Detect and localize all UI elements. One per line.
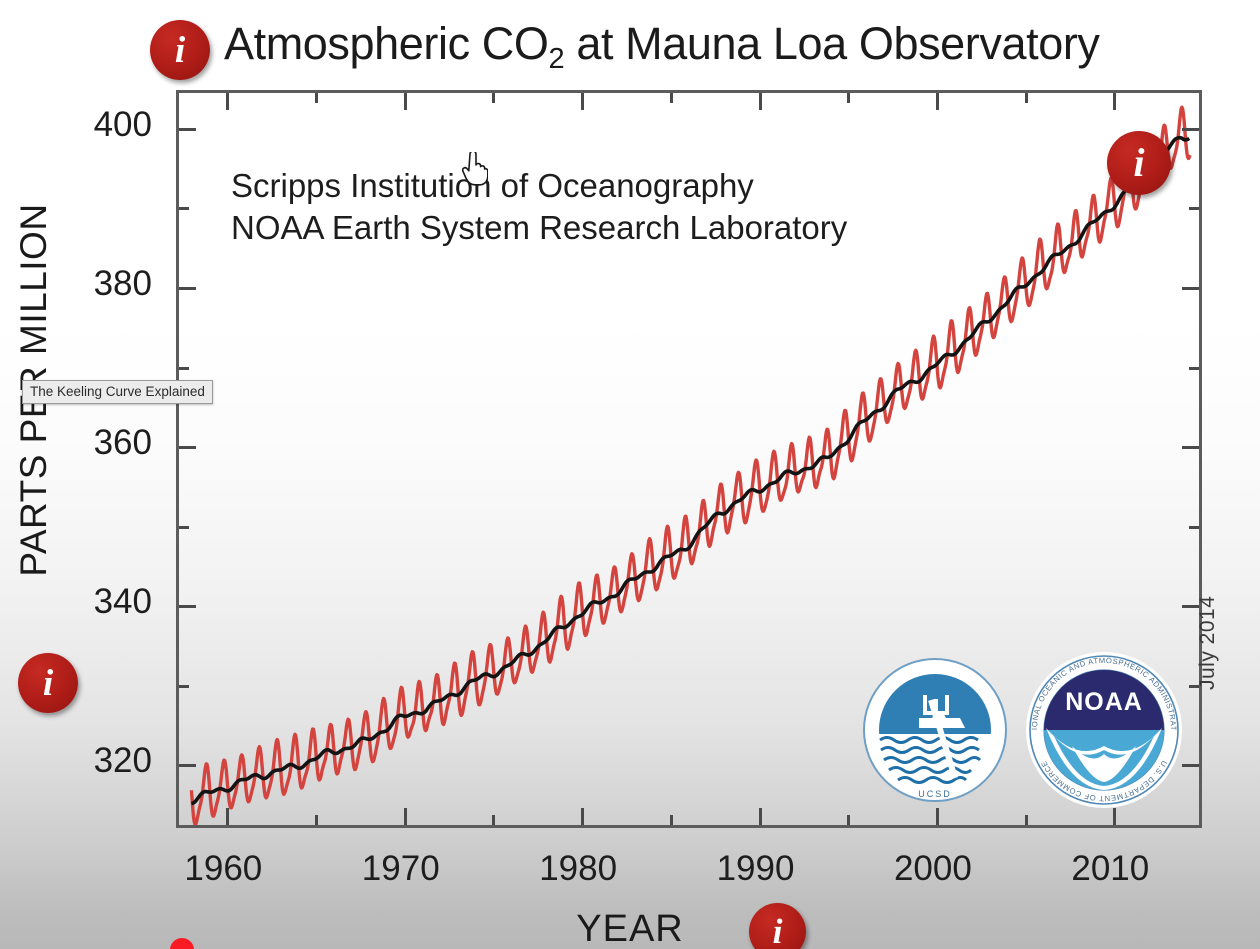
x-tick-label-2010: 2010	[1071, 849, 1149, 889]
info-button-title[interactable]: i	[150, 20, 210, 80]
y-tick-minor-right-350	[1189, 526, 1199, 529]
noaa-logo: NOAA NATIONAL OCEANIC AND ATMOSPHERIC AD…	[1024, 650, 1184, 810]
x-tick-1960	[226, 808, 229, 825]
x-tick-top-2000	[936, 93, 939, 110]
y-tick-label-380: 380	[94, 264, 152, 304]
x-tick-minor-1965	[315, 815, 318, 825]
y-tick-right-320	[1182, 764, 1199, 767]
x-tick-minor-1985	[670, 815, 673, 825]
y-tick-400	[179, 128, 196, 131]
x-tick-top-2010	[1113, 93, 1116, 110]
scripps-logo: UCSD	[861, 656, 1009, 804]
x-tick-top-1990	[759, 93, 762, 110]
y-tick-minor-370	[179, 367, 189, 370]
y-tick-minor-right-390	[1189, 207, 1199, 210]
y-tick-minor-350	[179, 526, 189, 529]
y-tick-right-400	[1182, 128, 1199, 131]
y-tick-label-320: 320	[94, 741, 152, 781]
x-tick-1980	[581, 808, 584, 825]
x-tick-top-1970	[404, 93, 407, 110]
x-tick-2010	[1113, 808, 1116, 825]
chart-plot-inner: Scripps Institution of Oceanography NOAA…	[179, 93, 1199, 825]
y-tick-360	[179, 446, 196, 449]
y-tick-minor-330	[179, 685, 189, 688]
x-tick-minor-top-1985	[670, 93, 673, 103]
keeling-curve-page: Atmospheric CO2 at Mauna Loa Observatory…	[0, 0, 1260, 949]
y-tick-minor-right-370	[1189, 367, 1199, 370]
x-tick-1990	[759, 808, 762, 825]
title-prefix: Atmospheric CO	[224, 18, 549, 69]
y-tick-label-360: 360	[94, 423, 152, 463]
x-tick-2000	[936, 808, 939, 825]
x-tick-label-2000: 2000	[894, 849, 972, 889]
y-tick-340	[179, 605, 196, 608]
x-tick-minor-1975	[492, 815, 495, 825]
info-button-yaxis[interactable]: i	[18, 653, 78, 713]
svg-text:NOAA: NOAA	[1065, 688, 1143, 716]
y-tick-minor-390	[179, 207, 189, 210]
page-title: Atmospheric CO2 at Mauna Loa Observatory	[224, 18, 1100, 70]
title-suffix: at Mauna Loa Observatory	[564, 18, 1099, 69]
y-tick-320	[179, 764, 196, 767]
chart-plot-area: Scripps Institution of Oceanography NOAA…	[176, 90, 1202, 828]
x-tick-1970	[404, 808, 407, 825]
tooltip: The Keeling Curve Explained	[22, 380, 213, 404]
y-tick-380	[179, 287, 196, 290]
x-tick-label-1990: 1990	[717, 849, 795, 889]
y-tick-label-400: 400	[94, 105, 152, 145]
x-tick-top-1980	[581, 93, 584, 110]
x-tick-label-1970: 1970	[362, 849, 440, 889]
y-tick-label-340: 340	[94, 582, 152, 622]
x-tick-label-1980: 1980	[539, 849, 617, 889]
date-stamp: July 2014	[1196, 560, 1220, 690]
x-tick-minor-top-1965	[315, 93, 318, 103]
y-tick-right-380	[1182, 287, 1199, 290]
svg-text:UCSD: UCSD	[918, 789, 952, 799]
x-tick-minor-top-1995	[847, 93, 850, 103]
title-subscript: 2	[549, 43, 565, 75]
x-tick-top-1960	[226, 93, 229, 110]
info-button-curve[interactable]: i	[1107, 131, 1171, 195]
y-tick-right-360	[1182, 446, 1199, 449]
x-tick-minor-1995	[847, 815, 850, 825]
x-tick-minor-top-2005	[1025, 93, 1028, 103]
x-tick-minor-2005	[1025, 815, 1028, 825]
x-tick-label-1960: 1960	[184, 849, 262, 889]
x-tick-minor-top-1975	[492, 93, 495, 103]
